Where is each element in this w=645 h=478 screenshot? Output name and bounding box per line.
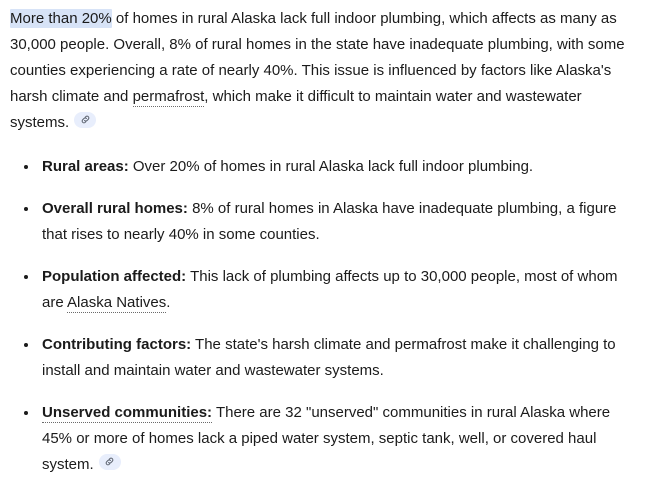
- summary-paragraph: More than 20% of homes in rural Alaska l…: [10, 6, 636, 136]
- list-item: Contributing factors: The state's harsh …: [10, 332, 636, 384]
- list-item: Unserved communities: There are 32 "unse…: [10, 400, 636, 478]
- term-permafrost[interactable]: permafrost: [133, 88, 205, 107]
- link-icon[interactable]: [99, 454, 121, 470]
- highlighted-answer-snippet[interactable]: More than 20%: [10, 9, 112, 28]
- bullet-dot-icon: [24, 165, 28, 169]
- bullet-text-rural-areas: Over 20% of homes in rural Alaska lack f…: [129, 158, 533, 175]
- answer-block: More than 20% of homes in rural Alaska l…: [0, 0, 645, 478]
- list-item: Overall rural homes: 8% of rural homes i…: [10, 196, 636, 248]
- bullet-label-population-affected: Population affected:: [42, 268, 186, 285]
- bullet-label-overall-rural-homes: Overall rural homes:: [42, 200, 188, 217]
- key-points-list: Rural areas: Over 20% of homes in rural …: [10, 154, 636, 478]
- bullet-dot-icon: [24, 411, 28, 415]
- list-item: Rural areas: Over 20% of homes in rural …: [10, 154, 636, 180]
- bullet-text-population-affected-after: .: [166, 294, 170, 311]
- list-item: Population affected: This lack of plumbi…: [10, 264, 636, 316]
- bullet-label-contributing-factors: Contributing factors:: [42, 336, 191, 353]
- link-icon[interactable]: [74, 112, 96, 128]
- bullet-label-rural-areas: Rural areas:: [42, 158, 129, 175]
- bullet-dot-icon: [24, 343, 28, 347]
- bullet-dot-icon: [24, 275, 28, 279]
- bullet-dot-icon: [24, 207, 28, 211]
- bullet-label-unserved-communities[interactable]: Unserved communities:: [42, 404, 212, 423]
- term-alaska-natives[interactable]: Alaska Natives: [67, 294, 166, 313]
